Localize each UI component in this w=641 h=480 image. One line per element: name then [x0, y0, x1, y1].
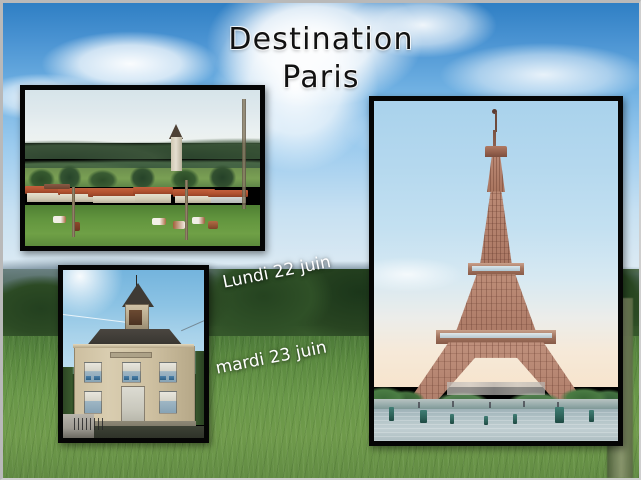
mairie-entrance-door — [121, 386, 145, 426]
village-photo[interactable] — [20, 85, 265, 251]
tower-second-floor-glazing — [472, 266, 520, 271]
mairie-nameplate — [110, 352, 152, 358]
fountain-nozzle — [555, 407, 564, 423]
window-shutter — [160, 376, 166, 380]
cow — [208, 221, 218, 229]
tower-mast — [495, 112, 497, 132]
fountain-water-reflection — [374, 409, 618, 441]
mairie-photo[interactable] — [58, 265, 209, 443]
cow — [152, 218, 166, 225]
window — [159, 391, 177, 415]
cow — [53, 216, 66, 223]
fountain-nozzle — [389, 407, 394, 421]
pedestrian — [489, 402, 491, 408]
fountain-nozzle — [420, 410, 427, 423]
cupola-opening — [129, 310, 142, 325]
window-shutter — [124, 376, 130, 380]
cow — [173, 221, 185, 229]
mairie-railing — [74, 418, 105, 430]
pedestrian — [452, 401, 454, 407]
fence-post — [72, 187, 75, 237]
fence-post — [185, 180, 188, 239]
village-bare-tree — [242, 99, 246, 208]
tower-top-deck — [485, 146, 508, 158]
mairie-photo-content — [63, 270, 204, 438]
mairie-cornice — [73, 344, 194, 348]
fountain-nozzle — [589, 410, 594, 422]
eiffel-distant-buildings — [447, 382, 545, 396]
window-shutter — [169, 376, 175, 380]
village-church-tower — [171, 137, 182, 171]
pedestrian — [523, 401, 525, 407]
fountain-nozzle — [450, 414, 454, 424]
village-photo-content — [25, 90, 260, 246]
cow — [192, 217, 205, 224]
window-shutter — [86, 376, 92, 380]
fountain-nozzle — [484, 416, 488, 425]
pedestrian — [418, 402, 420, 408]
tower-antenna — [493, 130, 496, 147]
eiffel-tower-photo[interactable] — [369, 96, 623, 446]
window-shutter — [94, 376, 100, 380]
tower-first-floor-glazing — [440, 333, 552, 338]
eiffel-photo-content — [374, 101, 618, 441]
presentation-slide: Destination Paris — [0, 0, 641, 480]
fountain-nozzle — [513, 414, 517, 424]
window-shutter — [132, 376, 138, 380]
window — [84, 391, 102, 415]
village-meadow — [25, 205, 260, 246]
